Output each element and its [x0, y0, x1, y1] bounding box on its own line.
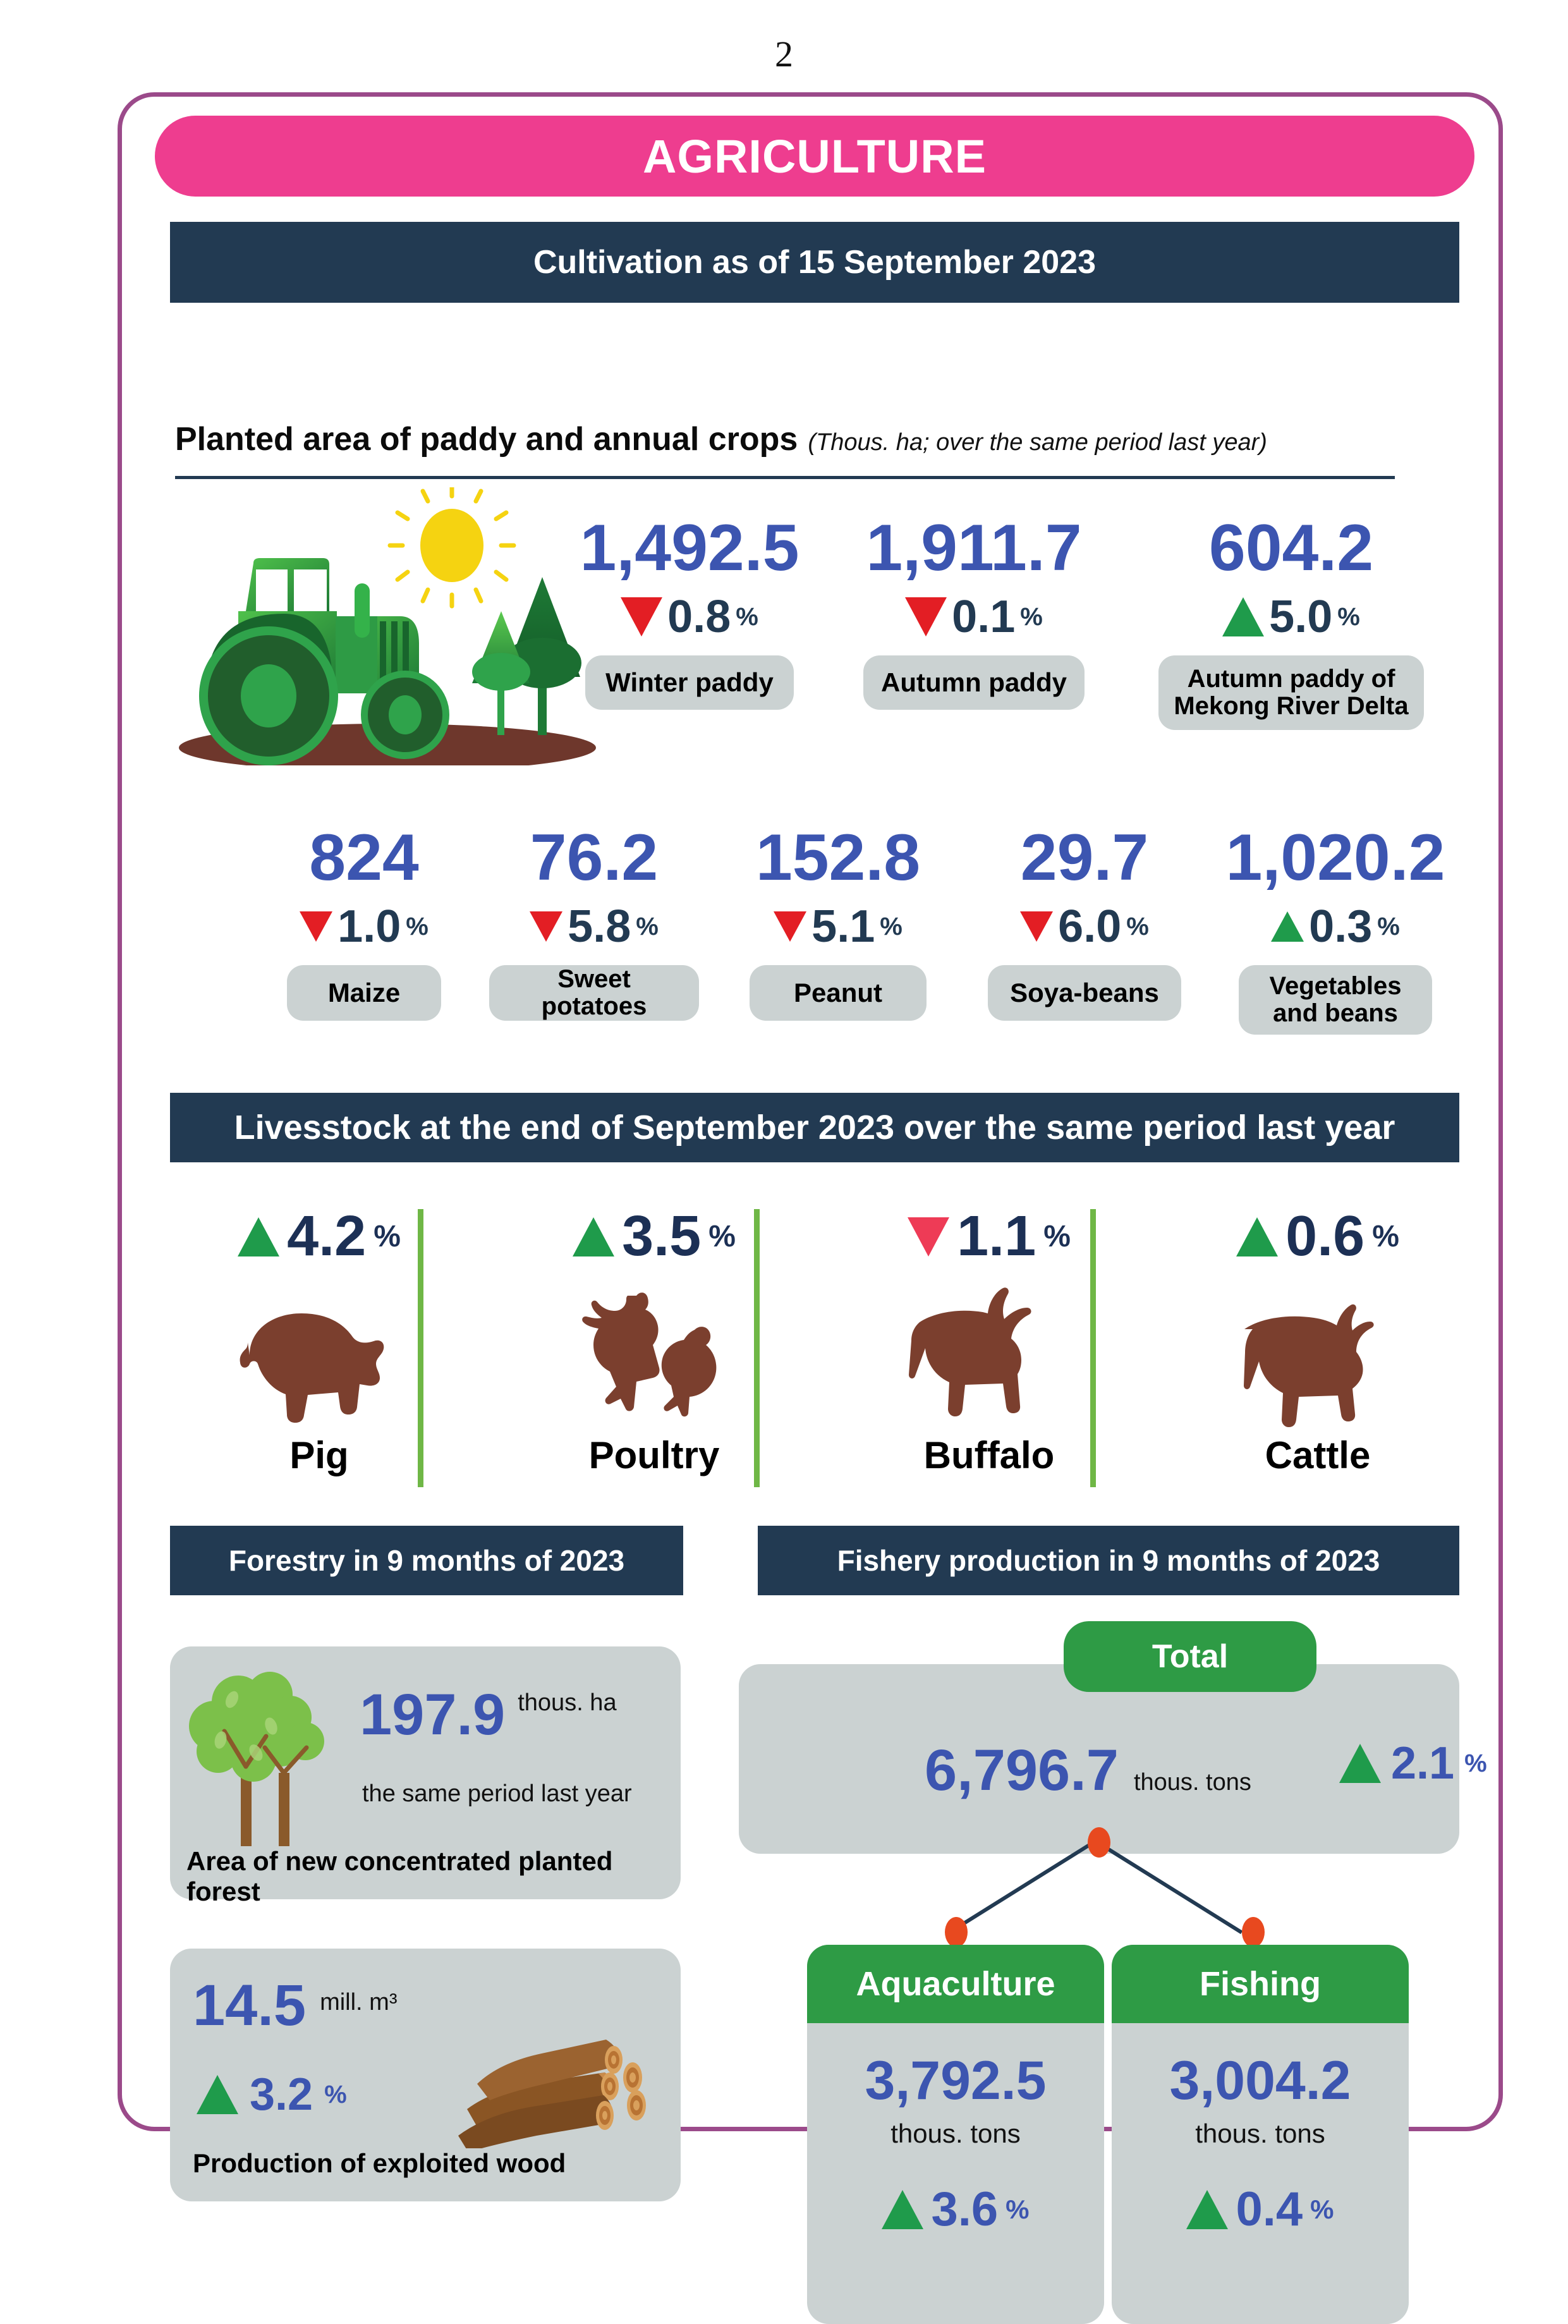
livestock-change-value: 0.6 [1285, 1204, 1364, 1269]
percent-sign: % [1310, 2194, 1334, 2225]
wood-logs-icon [442, 1990, 657, 2148]
stat-change-value: 6.0 [1058, 901, 1121, 952]
stat-label-pill: Winter paddy [585, 655, 794, 710]
page-number: 2 [0, 33, 1568, 75]
card-fishing: Fishing 3,004.2 thous. tons 0.4 % [1112, 1945, 1409, 2324]
stat-change-value: 0.8 [667, 591, 731, 643]
buffalo-icon [850, 1284, 1128, 1430]
arrow-down-icon [905, 597, 947, 636]
trees-icon [185, 1665, 349, 1849]
section-header-fishery: Fishery production in 9 months of 2023 [758, 1526, 1459, 1595]
stat-value: 604.2 [1158, 515, 1424, 581]
fishery-total-value: 6,796.7 [925, 1737, 1119, 1804]
livestock-change: 4.2 % [180, 1204, 458, 1269]
livestock-change-value: 3.5 [622, 1204, 701, 1269]
node-dot-top [1088, 1827, 1110, 1858]
stat-label-pill: Autumn paddy of Mekong River Delta [1158, 655, 1424, 730]
pig-icon [180, 1284, 458, 1430]
livestock-label: Buffalo [850, 1433, 1128, 1477]
arrow-up-icon [882, 2190, 923, 2229]
stat-change-value: 5.1 [811, 901, 875, 952]
percent-sign: % [1020, 603, 1043, 631]
stat-label-pill: Vegetables and beans [1239, 965, 1432, 1035]
stat-change-value: 0.3 [1309, 901, 1372, 952]
forest-area-caption: Area of new concentrated planted forest [186, 1846, 681, 1907]
forest-area-unit: thous. ha [518, 1689, 616, 1717]
wood-value: 14.5 [193, 1976, 306, 2035]
stat-value: 152.8 [727, 825, 949, 891]
livestock-label: Cattle [1179, 1433, 1457, 1477]
stat-soya-beans: 29.7 6.0 % Soya-beans [974, 825, 1195, 1021]
arrow-up-icon [1236, 1217, 1278, 1256]
forest-area-note: the same period last year [362, 1780, 632, 1808]
stat-vegetables-beans: 1,020.2 0.3 % Vegetables and beans [1209, 825, 1462, 1035]
section-header-livestock-label: Livesstock at the end of September 2023 … [234, 1108, 1395, 1147]
aquaculture-change-value: 3.6 [931, 2182, 998, 2237]
sun-icon [390, 487, 514, 606]
percent-sign: % [1043, 1219, 1071, 1254]
poultry-icon [515, 1284, 793, 1430]
heading-rule [175, 476, 1395, 479]
percent-sign: % [880, 913, 903, 941]
card-aquaculture: Aquaculture 3,792.5 thous. tons 3.6 % [807, 1945, 1104, 2324]
arrow-up-icon [1339, 1744, 1381, 1783]
stat-label-pill: Soya-beans [988, 965, 1181, 1021]
percent-sign: % [1126, 913, 1149, 941]
livestock-change-value: 1.1 [957, 1204, 1036, 1269]
percent-sign: % [636, 913, 659, 941]
livestock-change: 1.1 % [850, 1204, 1128, 1269]
aquaculture-value: 3,792.5 [865, 2050, 1047, 2112]
stat-label-pill: Autumn paddy [863, 655, 1085, 710]
wood-caption: Production of exploited wood [193, 2148, 566, 2179]
aquaculture-change: 3.6 % [882, 2182, 1029, 2237]
stat-change-value: 5.8 [568, 901, 631, 952]
tractor-body [199, 558, 449, 765]
page-title: AGRICULTURE [643, 130, 987, 183]
percent-sign: % [406, 913, 428, 941]
stat-change: 0.8 % [576, 591, 803, 643]
planted-area-title: Planted area of paddy and annual crops [175, 420, 798, 458]
fishery-total-unit: thous. tons [1134, 1769, 1251, 1796]
percent-sign: % [736, 603, 758, 631]
stat-label-pill: Peanut [750, 965, 927, 1021]
fishing-value: 3,004.2 [1170, 2050, 1351, 2112]
stat-autumn-paddy: 1,911.7 0.1 % Autumn paddy [860, 515, 1088, 710]
livestock-change-value: 4.2 [287, 1204, 366, 1269]
percent-sign: % [1337, 603, 1360, 631]
livestock-buffalo: 1.1 % Buffalo [850, 1204, 1128, 1477]
section-header-forestry-label: Forestry in 9 months of 2023 [229, 1543, 624, 1578]
stat-change: 0.3 % [1209, 901, 1462, 952]
aquaculture-header: Aquaculture [807, 1945, 1104, 2023]
tree-left [472, 611, 530, 735]
arrow-down-icon [1020, 911, 1053, 942]
forest-area-value: 197.9 [360, 1686, 505, 1744]
stat-value: 1,911.7 [860, 515, 1088, 581]
card-exploited-wood: 14.5 mill. m³ 3.2 % [170, 1949, 681, 2201]
arrow-down-icon [621, 597, 662, 636]
livestock-pig: 4.2 % Pig [180, 1204, 458, 1477]
stat-label-pill: Maize [287, 965, 441, 1021]
fishery-total-tab: Total [1064, 1621, 1316, 1692]
section-header-livestock: Livesstock at the end of September 2023 … [170, 1093, 1459, 1162]
planted-area-unit-note: (Thous. ha; over the same period last ye… [808, 429, 1267, 456]
livestock-label: Pig [180, 1433, 458, 1477]
percent-sign: % [1372, 1219, 1399, 1254]
arrow-down-icon [300, 911, 332, 942]
stat-change-value: 5.0 [1269, 591, 1332, 643]
stat-maize: 824 1.0 % Maize [253, 825, 475, 1021]
stat-change: 0.1 % [860, 591, 1088, 643]
aquaculture-label: Aquaculture [856, 1964, 1055, 2004]
percent-sign: % [708, 1219, 736, 1254]
fishing-label: Fishing [1200, 1964, 1321, 2004]
stat-label-pill: Sweet potatoes [489, 965, 699, 1021]
fishery-total-change: 2.1 [1391, 1737, 1454, 1789]
section-header-fishery-label: Fishery production in 9 months of 2023 [837, 1543, 1380, 1578]
arrow-down-icon [774, 911, 806, 942]
stat-value: 1,492.5 [576, 515, 803, 581]
stat-change: 5.8 % [483, 901, 705, 952]
arrow-up-icon [1186, 2190, 1228, 2229]
arrow-down-icon [530, 911, 562, 942]
section-header-forestry: Forestry in 9 months of 2023 [170, 1526, 683, 1595]
stat-value: 29.7 [974, 825, 1195, 891]
section-header-cultivation: Cultivation as of 15 September 2023 [170, 222, 1459, 303]
fishery-total-tab-label: Total [1152, 1638, 1228, 1676]
arrow-up-icon [573, 1217, 614, 1256]
arrow-up-icon [1222, 597, 1264, 636]
percent-sign: % [1464, 1749, 1487, 1778]
section-header-cultivation-label: Cultivation as of 15 September 2023 [533, 243, 1096, 281]
livestock-cattle: 0.6 % Cattle [1179, 1204, 1457, 1477]
node-dot-left [945, 1917, 968, 1947]
page-frame: AGRICULTURE Cultivation as of 15 Septemb… [118, 92, 1503, 2131]
percent-sign: % [324, 2081, 347, 2109]
stat-value: 1,020.2 [1209, 825, 1462, 891]
arrow-up-icon [238, 1217, 279, 1256]
wood-change-value: 3.2 [250, 2069, 313, 2120]
stat-change: 5.0 % [1158, 591, 1424, 643]
fishing-change-value: 0.4 [1236, 2182, 1303, 2237]
stat-winter-paddy: 1,492.5 0.8 % Winter paddy [576, 515, 803, 710]
stat-sweet-potatoes: 76.2 5.8 % Sweet potatoes [483, 825, 705, 1021]
stat-autumn-paddy-mekong: 604.2 5.0 % Autumn paddy of Mekong River… [1158, 515, 1424, 730]
wood-unit: mill. m³ [320, 1989, 397, 2016]
percent-sign: % [374, 1219, 401, 1254]
fishing-unit: thous. tons [1195, 2119, 1325, 2149]
aquaculture-unit: thous. tons [890, 2119, 1020, 2149]
stat-change-value: 0.1 [952, 591, 1015, 643]
stat-peanut: 152.8 5.1 % Peanut [727, 825, 949, 1021]
fishing-change: 0.4 % [1186, 2182, 1334, 2237]
card-planted-forest: 197.9 thous. ha the same period last yea… [170, 1646, 681, 1899]
percent-sign: % [1006, 2194, 1029, 2225]
stat-change: 5.1 % [727, 901, 949, 952]
livestock-label: Poultry [515, 1433, 793, 1477]
fishing-header: Fishing [1112, 1945, 1409, 2023]
arrow-up-icon [1271, 911, 1304, 942]
stat-value: 824 [253, 825, 475, 891]
node-dot-right [1242, 1917, 1265, 1947]
cattle-icon [1179, 1284, 1457, 1430]
livestock-change: 3.5 % [515, 1204, 793, 1269]
planted-area-heading: Planted area of paddy and annual crops (… [175, 420, 1439, 458]
arrow-up-icon [197, 2075, 238, 2114]
livestock-poultry: 3.5 % Poultry [515, 1204, 793, 1477]
page-title-banner: AGRICULTURE [155, 116, 1474, 197]
stat-change-value: 1.0 [337, 901, 401, 952]
stat-change: 6.0 % [974, 901, 1195, 952]
stat-value: 76.2 [483, 825, 705, 891]
tractor-illustration [160, 487, 615, 765]
percent-sign: % [1377, 913, 1400, 941]
stat-change: 1.0 % [253, 901, 475, 952]
arrow-down-icon [908, 1217, 949, 1256]
livestock-change: 0.6 % [1179, 1204, 1457, 1269]
connector-right [1097, 1841, 1243, 1934]
